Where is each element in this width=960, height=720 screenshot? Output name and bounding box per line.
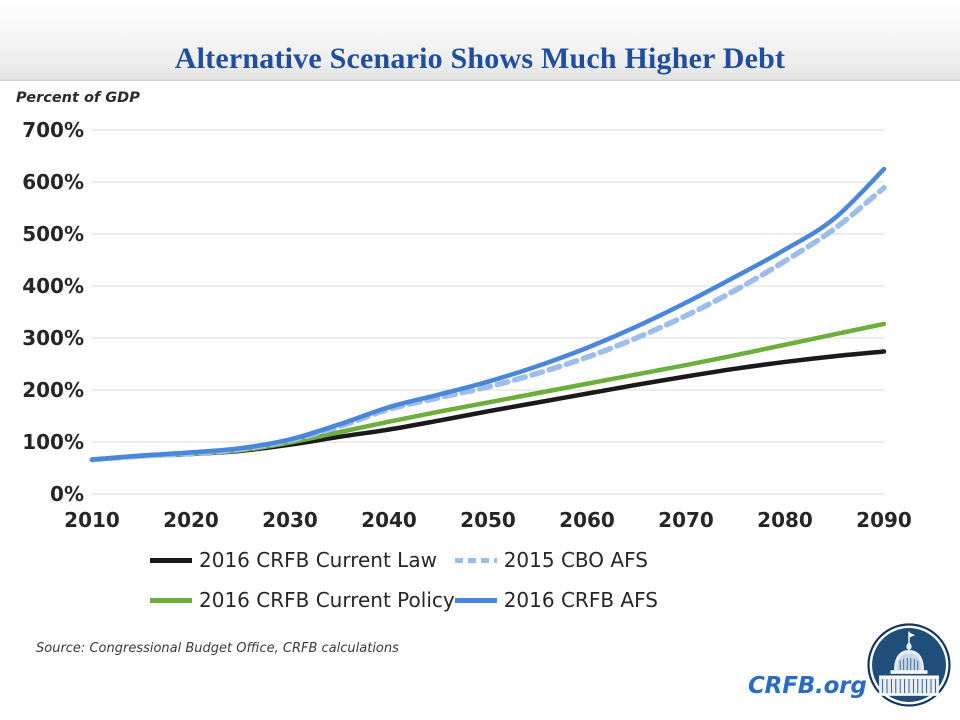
x-axis-tick-label: 2060 (559, 508, 615, 532)
legend-item-label: 2015 CBO AFS (504, 548, 648, 572)
legend-swatch-icon (150, 558, 192, 563)
x-axis-tick-label: 2010 (64, 508, 120, 532)
chart-legend: 2016 CRFB Current Law2015 CBO AFS2016 CR… (150, 548, 850, 612)
capitol-dome-icon (865, 621, 953, 709)
legend-swatch-icon (455, 598, 497, 603)
crfb-branding[interactable]: CRFB.org (748, 618, 952, 714)
legend-item[interactable]: 2015 CBO AFS (455, 548, 658, 572)
legend-item-label: 2016 CRFB AFS (504, 588, 658, 612)
legend-swatch-icon (455, 558, 497, 563)
x-axis-tick-label: 2040 (361, 508, 417, 532)
chart-plot-area: 700%600%500%400%300%200%100%0% 201020202… (0, 0, 960, 720)
crfb-logo-text: CRFB.org (748, 673, 867, 699)
legend-swatch-icon (150, 598, 192, 603)
legend-item[interactable]: 2016 CRFB Current Policy (150, 588, 455, 612)
legend-item-label: 2016 CRFB Current Law (199, 548, 437, 572)
x-axis-tick-label: 2030 (262, 508, 318, 532)
x-axis-tick-label: 2080 (757, 508, 813, 532)
x-axis-ticks: 201020202030204020502060207020802090 (0, 0, 960, 720)
x-axis-tick-label: 2070 (658, 508, 714, 532)
x-axis-tick-label: 2050 (460, 508, 516, 532)
x-axis-tick-label: 2020 (163, 508, 219, 532)
source-note: Source: Congressional Budget Office, CRF… (36, 641, 399, 656)
legend-item[interactable]: 2016 CRFB Current Law (150, 548, 455, 572)
legend-item-label: 2016 CRFB Current Policy (199, 588, 455, 612)
legend-item[interactable]: 2016 CRFB AFS (455, 588, 658, 612)
x-axis-tick-label: 2090 (856, 508, 912, 532)
